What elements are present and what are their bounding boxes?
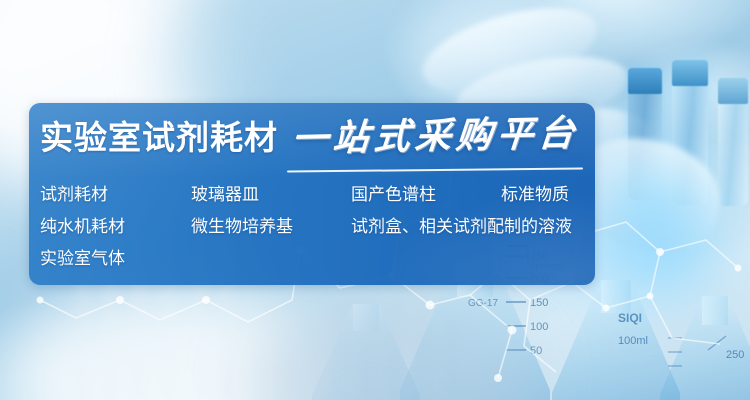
title-main-text: 实验室试剂耗材 <box>40 121 278 154</box>
category-item[interactable]: 玻璃器皿 <box>191 179 259 211</box>
vial-cap <box>672 60 708 86</box>
category-item[interactable]: 微生物培养基 <box>191 211 293 243</box>
title-underline <box>287 167 583 172</box>
category-item[interactable]: 试剂盒、相关试剂配制的溶液 <box>351 211 572 243</box>
vial-cap <box>718 78 748 104</box>
vial-cap <box>628 68 662 94</box>
category-item[interactable]: 国产色谱柱 <box>351 179 436 211</box>
category-item[interactable]: 试剂耗材 <box>40 179 108 211</box>
graduation-label: GG-17 <box>468 298 498 309</box>
graduation-label: 100 <box>530 321 548 333</box>
title-brush-text: 一站式采购平台 <box>290 115 581 157</box>
category-list: 试剂耗材 玻璃器皿 国产色谱柱 标准物质 纯水机耗材 微生物培养基 试剂盒、相关… <box>40 179 588 275</box>
banner-image: 250 APPROX 200 150 100 50 GG-17 SIQI 100… <box>0 0 750 400</box>
cryovial <box>718 78 748 206</box>
category-row: 纯水机耗材 微生物培养基 试剂盒、相关试剂配制的溶液 <box>40 211 588 243</box>
banner-title: 实验室试剂耗材 一站式采购平台 <box>40 118 579 154</box>
category-item[interactable]: 纯水机耗材 <box>40 211 125 243</box>
category-item[interactable]: 标准物质 <box>501 179 569 211</box>
promo-banner: 实验室试剂耗材 一站式采购平台 试剂耗材 玻璃器皿 国产色谱柱 标准物质 纯水机… <box>29 103 595 285</box>
graduation-label: 100ml <box>618 335 648 347</box>
category-row: 试剂耗材 玻璃器皿 国产色谱柱 标准物质 <box>40 179 588 211</box>
graduation-label: 250 <box>726 349 744 361</box>
category-item[interactable]: 实验室气体 <box>40 243 125 275</box>
graduation-label: 50 <box>530 345 542 357</box>
brand-label: SIQI <box>618 311 642 325</box>
category-row: 实验室气体 <box>40 243 588 275</box>
graduation-label: 150 <box>530 297 548 309</box>
